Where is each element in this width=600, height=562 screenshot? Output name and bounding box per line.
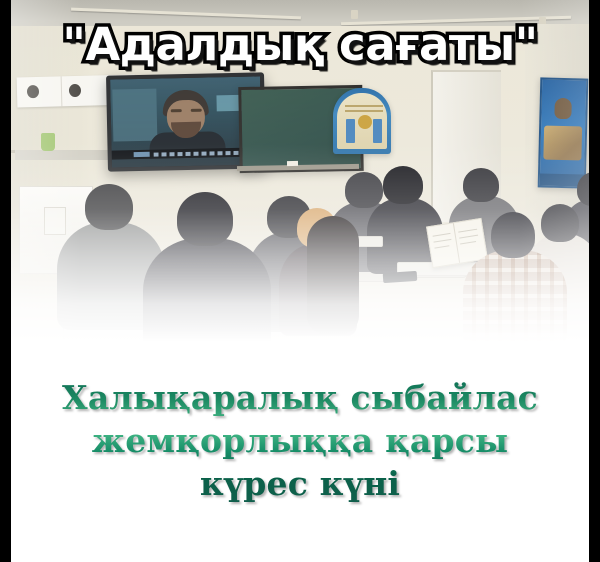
book-text-line [433,233,451,237]
student-head [177,192,233,246]
event-heading-line-2: жемқорлыққа қарсы [0,419,600,462]
student-head [463,168,499,202]
letterbox-bar-right [589,0,600,562]
book-text-line [460,241,476,244]
student-head [85,184,133,230]
phone-on-desk [383,271,418,283]
student-head [541,204,579,242]
student-head [383,166,423,204]
student-head [491,212,535,258]
event-heading-line-1: Халықаралық сыбайлас [0,376,600,419]
book-text-line [434,245,449,248]
event-heading: Халықаралық сыбайлас жемқорлыққа қарсы к… [0,376,600,505]
student-torso [143,238,271,358]
student-torso-plaid [463,250,567,346]
letterbox-bar-left [0,0,11,562]
book-text-line [434,239,452,243]
page-title: "Адалдық сағаты" [0,14,600,76]
student-head [345,172,383,208]
book-text-line [459,235,478,239]
event-heading-line-3: күрес күні [0,462,600,505]
student-long-hair [307,216,359,334]
book-spine [453,223,460,263]
poster-canvas: "Адалдық сағаты" Халықаралық сыбайлас же… [0,0,600,562]
book-text-line [458,229,477,233]
